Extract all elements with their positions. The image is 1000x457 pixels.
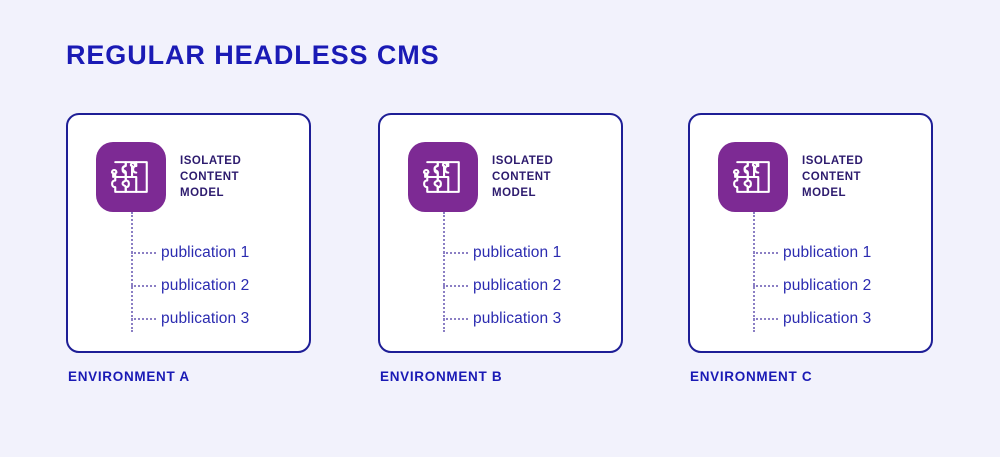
publication-connector-a: publication 1 publication 2 publication … <box>131 212 311 342</box>
content-model-label-line-3: MODEL <box>492 185 553 201</box>
content-model-label-line-2: CONTENT <box>180 169 241 185</box>
publication-connector-b: publication 1 publication 2 publication … <box>443 212 623 342</box>
publication-label: publication 2 <box>783 277 871 295</box>
publication-label: publication 1 <box>473 244 561 262</box>
publication-label: publication 1 <box>161 244 249 262</box>
puzzle-icon <box>718 142 788 212</box>
page-title: REGULAR HEADLESS CMS <box>66 40 440 71</box>
list-item: publication 3 <box>753 308 871 330</box>
connector-stub <box>443 285 468 287</box>
connector-stub <box>443 318 468 320</box>
publication-label: publication 1 <box>783 244 871 262</box>
publication-connector-c: publication 1 publication 2 publication … <box>753 212 933 342</box>
content-model-label-a: ISOLATED CONTENT MODEL <box>180 153 241 201</box>
connector-stub <box>131 285 156 287</box>
environment-caption-b: ENVIRONMENT B <box>380 369 502 384</box>
list-item: publication 1 <box>131 242 249 264</box>
environment-column-c: ISOLATED CONTENT MODEL publication 1 pub… <box>688 113 933 353</box>
connector-stub <box>753 318 778 320</box>
connector-stub <box>443 252 468 254</box>
publication-label: publication 3 <box>783 310 871 328</box>
puzzle-icon <box>408 142 478 212</box>
content-model-label-line-1: ISOLATED <box>492 153 553 169</box>
content-model-label-b: ISOLATED CONTENT MODEL <box>492 153 553 201</box>
list-item: publication 3 <box>131 308 249 330</box>
content-model-label-line-1: ISOLATED <box>802 153 863 169</box>
publication-label: publication 3 <box>161 310 249 328</box>
content-model-group-a: ISOLATED CONTENT MODEL <box>96 142 241 212</box>
environment-card-c: ISOLATED CONTENT MODEL publication 1 pub… <box>688 113 933 353</box>
content-model-group-c: ISOLATED CONTENT MODEL <box>718 142 863 212</box>
environment-caption-a: ENVIRONMENT A <box>68 369 190 384</box>
environment-column-b: ISOLATED CONTENT MODEL publication 1 pub… <box>378 113 623 353</box>
content-model-label-line-1: ISOLATED <box>180 153 241 169</box>
content-model-label-line-2: CONTENT <box>802 169 863 185</box>
list-item: publication 1 <box>753 242 871 264</box>
environment-caption-c: ENVIRONMENT C <box>690 369 812 384</box>
content-model-label-line-3: MODEL <box>802 185 863 201</box>
puzzle-icon <box>96 142 166 212</box>
list-item: publication 2 <box>753 275 871 297</box>
content-model-label-line-2: CONTENT <box>492 169 553 185</box>
publication-label: publication 2 <box>473 277 561 295</box>
content-model-label-line-3: MODEL <box>180 185 241 201</box>
diagram-root: REGULAR HEADLESS CMS ISOLATED CON <box>0 0 1000 457</box>
environment-card-a: ISOLATED CONTENT MODEL publication 1 pub… <box>66 113 311 353</box>
connector-stub <box>131 318 156 320</box>
connector-stub <box>753 252 778 254</box>
content-model-group-b: ISOLATED CONTENT MODEL <box>408 142 553 212</box>
list-item: publication 2 <box>443 275 561 297</box>
content-model-label-c: ISOLATED CONTENT MODEL <box>802 153 863 201</box>
environment-column-a: ISOLATED CONTENT MODEL publication 1 pub… <box>66 113 311 353</box>
list-item: publication 3 <box>443 308 561 330</box>
list-item: publication 2 <box>131 275 249 297</box>
connector-stub <box>131 252 156 254</box>
publication-label: publication 2 <box>161 277 249 295</box>
connector-stub <box>753 285 778 287</box>
list-item: publication 1 <box>443 242 561 264</box>
environment-card-b: ISOLATED CONTENT MODEL publication 1 pub… <box>378 113 623 353</box>
publication-label: publication 3 <box>473 310 561 328</box>
